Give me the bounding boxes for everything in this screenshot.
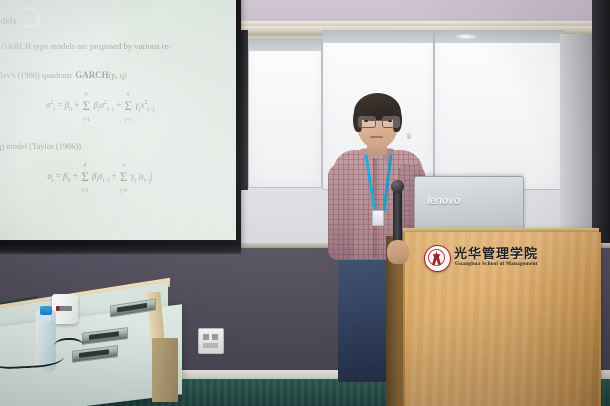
presentation-slide: odels ns of GARCH type models are propos… [0,12,234,195]
glasses-bridge [374,120,382,121]
projection-screen: odels ns of GARCH type models are propos… [0,0,236,240]
whiteboard-panel-right [434,30,564,190]
whiteboard-panel-left [248,38,322,188]
desk-cable-loop [54,338,84,356]
slide-subheading-1: llerslev's (1986) quadratic GARCH(p, q) [0,70,234,80]
screen-frame-gap [240,30,248,190]
eyeglasses [357,116,399,127]
lens-right [382,116,400,128]
port-opening [89,331,119,340]
summation-2a: p Σ i=1 [81,159,89,195]
wall-column [560,34,594,250]
seal-glyph [431,251,443,265]
panel-header-strip [249,39,321,51]
name-badge [372,210,384,226]
subheading-1-prefix: llerslev's (1986) quadratic [0,71,75,80]
slide-equation-1: σ2t = β0 + p Σ i=1 βiσ2t−i + q Σ j=1 γjx… [0,88,234,124]
port-opening [117,303,147,313]
lecture-photograph: odels ns of GARCH type models are propos… [0,0,610,406]
microphone-head [391,180,404,193]
light-reflection [455,34,477,39]
mug-handle [24,7,40,28]
panel-header-strip [435,31,563,43]
mug-logo [56,306,72,311]
wall-outlet-plate [198,328,224,354]
sleeve-pattern [328,164,354,260]
slide-equation-2: σt = β0 + p Σ i=1 βiσt−i + q Σ j=1 γj |x… [0,159,234,195]
lenovo-logo: lenovo [427,195,460,207]
table-leg [152,338,178,402]
summation-1a: p Σ i=1 [83,88,91,124]
slide-subheading-2: (p, q) model (Taylor (1986)) [0,142,234,151]
slide-paragraph: ns of GARCH type models are proposed by … [0,41,234,52]
nose [407,131,411,139]
plaque-english-text: Guanghua School of Management [455,261,577,267]
subheading-1-suffix: (p, q) [109,71,127,80]
mouth [370,136,383,138]
panel-header-strip [323,31,433,43]
summation-2b: q Σ j=1 [120,159,128,195]
bottle-neck [42,314,51,321]
summation-1b: q Σ j=1 [124,88,132,124]
screen-bottom-bar [0,243,241,254]
peking-university-seal-icon [424,245,451,272]
speaker-hand [387,240,409,264]
subheading-1-bold: GARCH [75,70,109,80]
lens-left [358,116,376,128]
plaque-chinese-text: 光华管理学院 [454,243,574,262]
laptop-lid: lenovo [414,176,524,232]
bottle-cap [40,306,52,315]
speaker-left-arm [328,164,354,260]
podium-plaque: 光华管理学院 Guanghua School of Management [424,243,576,273]
